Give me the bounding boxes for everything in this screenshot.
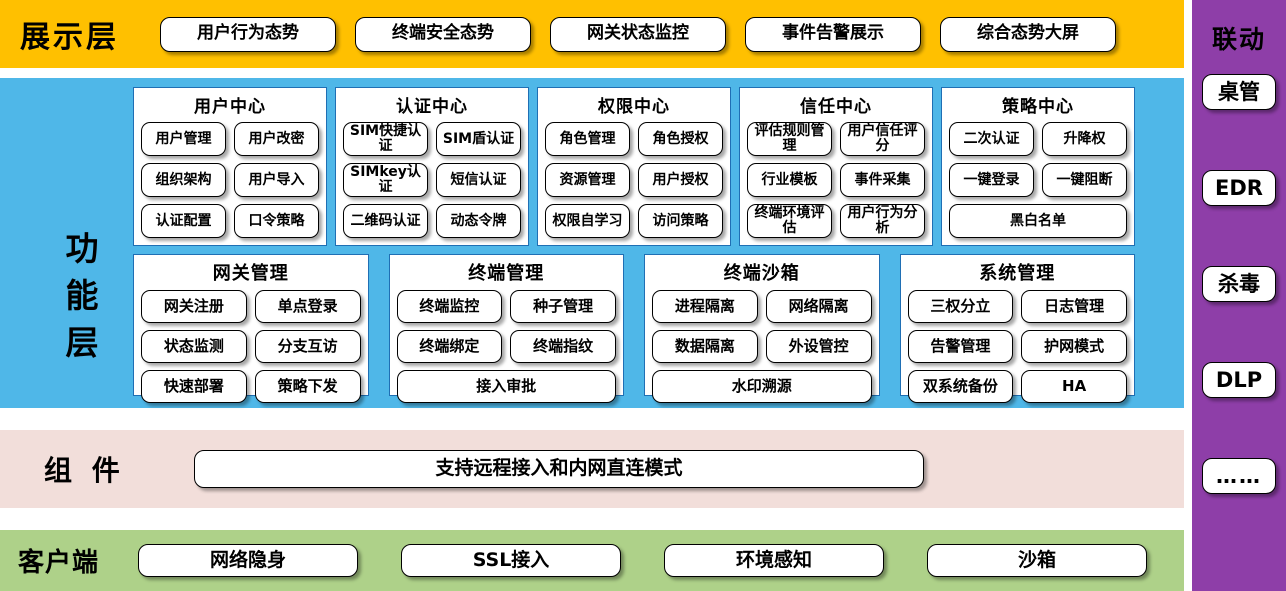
cell-endpoint-fingerprint[interactable]: 终端指纹 <box>510 330 616 363</box>
client-layer-label: 客户端 <box>18 542 138 579</box>
function-row-1: 用户中心 用户管理 用户改密 组织架构 用户导入 认证配置 口令策略 认证中心 … <box>133 87 1135 246</box>
cell-separation-of-powers[interactable]: 三权分立 <box>908 290 1014 323</box>
group-trust-center: 信任中心 评估规则管理 用户信任评分 行业模板 事件采集 终端环境评估 用户行为… <box>739 87 933 246</box>
group-title: 认证中心 <box>396 92 468 117</box>
cell-simkey-auth[interactable]: SIMkey认证 <box>343 163 428 197</box>
group-title: 系统管理 <box>979 259 1055 285</box>
group-gateway-management: 网关管理 网关注册 单点登录 状态监测 分支互访 快速部署 策略下发 <box>133 254 369 396</box>
cell-network-isolation[interactable]: 网络隔离 <box>766 290 872 323</box>
cell-sms-auth[interactable]: 短信认证 <box>436 163 521 197</box>
group-endpoint-sandbox: 终端沙箱 进程隔离 网络隔离 数据隔离 外设管控 水印溯源 <box>644 254 880 396</box>
function-layer-label: 功能层 <box>52 226 112 367</box>
cell-auth-config[interactable]: 认证配置 <box>141 204 226 238</box>
cell-industry-template[interactable]: 行业模板 <box>747 163 832 197</box>
cell-fast-deploy[interactable]: 快速部署 <box>141 370 247 403</box>
client-layer-items: 网络隐身 SSL接入 环境感知 沙箱 <box>138 544 1147 577</box>
cell-access-approval[interactable]: 接入审批 <box>397 370 617 403</box>
cell-log-management[interactable]: 日志管理 <box>1021 290 1127 323</box>
function-layer-band: 功能层 用户中心 用户管理 用户改密 组织架构 用户导入 认证配置 口令策略 认… <box>0 78 1184 408</box>
component-banner[interactable]: 支持远程接入和内网直连模式 <box>194 450 924 488</box>
group-user-center: 用户中心 用户管理 用户改密 组织架构 用户导入 认证配置 口令策略 <box>133 87 327 246</box>
cell-data-isolation[interactable]: 数据隔离 <box>652 330 758 363</box>
linkage-rail-title: 联动 <box>1212 20 1266 56</box>
group-cells: 角色管理 角色授权 资源管理 用户授权 权限自学习 访问策略 <box>538 122 730 244</box>
cell-sim-quick-auth[interactable]: SIM快捷认证 <box>343 122 428 156</box>
cell-qrcode-auth[interactable]: 二维码认证 <box>343 204 428 238</box>
cell-gateway-register[interactable]: 网关注册 <box>141 290 247 323</box>
component-layer-band: 组 件 支持远程接入和内网直连模式 <box>0 430 1184 508</box>
cell-user-import[interactable]: 用户导入 <box>234 163 319 197</box>
group-title: 信任中心 <box>800 92 872 117</box>
cell-seed-management[interactable]: 种子管理 <box>510 290 616 323</box>
group-cells: SIM快捷认证 SIM盾认证 SIMkey认证 短信认证 二维码认证 动态令牌 <box>336 122 528 244</box>
cell-sim-shield-auth[interactable]: SIM盾认证 <box>436 122 521 156</box>
rail-item-antivirus[interactable]: 杀毒 <box>1202 266 1276 302</box>
display-item-endpoint-security[interactable]: 终端安全态势 <box>355 17 531 52</box>
group-cells: 评估规则管理 用户信任评分 行业模板 事件采集 终端环境评估 用户行为分析 <box>740 122 932 244</box>
cell-user-grant[interactable]: 用户授权 <box>638 163 723 197</box>
group-auth-center: 认证中心 SIM快捷认证 SIM盾认证 SIMkey认证 短信认证 二维码认证 … <box>335 87 529 246</box>
function-row-2: 网关管理 网关注册 单点登录 状态监测 分支互访 快速部署 策略下发 终端管理 … <box>133 254 1135 396</box>
rail-item-dlp[interactable]: DLP <box>1202 362 1276 398</box>
cell-password-policy[interactable]: 口令策略 <box>234 204 319 238</box>
group-title: 终端沙箱 <box>724 259 800 285</box>
group-title: 网关管理 <box>213 259 289 285</box>
display-item-overview-screen[interactable]: 综合态势大屏 <box>940 17 1116 52</box>
cell-event-collect[interactable]: 事件采集 <box>840 163 925 197</box>
cell-one-key-block[interactable]: 一键阻断 <box>1042 163 1127 197</box>
cell-user-password[interactable]: 用户改密 <box>234 122 319 156</box>
cell-one-key-login[interactable]: 一键登录 <box>949 163 1034 197</box>
cell-permission-learn[interactable]: 权限自学习 <box>545 204 630 238</box>
cell-process-isolation[interactable]: 进程隔离 <box>652 290 758 323</box>
cell-defense-mode[interactable]: 护网模式 <box>1021 330 1127 363</box>
cell-branch-access[interactable]: 分支互访 <box>255 330 361 363</box>
group-cells: 进程隔离 网络隔离 数据隔离 外设管控 水印溯源 <box>645 290 879 409</box>
architecture-diagram: 展示层 用户行为态势 终端安全态势 网关状态监控 事件告警展示 综合态势大屏 功… <box>0 0 1286 591</box>
display-item-event-alarm[interactable]: 事件告警展示 <box>745 17 921 52</box>
client-layer-band: 客户端 网络隐身 SSL接入 环境感知 沙箱 <box>0 530 1184 591</box>
group-title: 策略中心 <box>1002 92 1074 117</box>
cell-alarm-management[interactable]: 告警管理 <box>908 330 1014 363</box>
cell-second-auth[interactable]: 二次认证 <box>949 122 1034 156</box>
group-title: 权限中心 <box>598 92 670 117</box>
cell-org-structure[interactable]: 组织架构 <box>141 163 226 197</box>
group-policy-center: 策略中心 二次认证 升降权 一键登录 一键阻断 黑白名单 <box>941 87 1135 246</box>
linkage-rail: 联动 桌管 EDR 杀毒 DLP …… <box>1192 0 1286 591</box>
cell-status-monitor[interactable]: 状态监测 <box>141 330 247 363</box>
cell-peripheral-control[interactable]: 外设管控 <box>766 330 872 363</box>
group-system-management: 系统管理 三权分立 日志管理 告警管理 护网模式 双系统备份 HA <box>900 254 1136 396</box>
group-cells: 网关注册 单点登录 状态监测 分支互访 快速部署 策略下发 <box>134 290 368 409</box>
display-item-gateway-status[interactable]: 网关状态监控 <box>550 17 726 52</box>
cell-black-white-list[interactable]: 黑白名单 <box>949 204 1127 238</box>
component-layer-label: 组 件 <box>44 449 194 489</box>
display-layer-items: 用户行为态势 终端安全态势 网关状态监控 事件告警展示 综合态势大屏 <box>160 17 1116 52</box>
cell-role-grant[interactable]: 角色授权 <box>638 122 723 156</box>
group-cells: 二次认证 升降权 一键登录 一键阻断 黑白名单 <box>942 122 1134 244</box>
cell-dynamic-token[interactable]: 动态令牌 <box>436 204 521 238</box>
display-layer-band: 展示层 用户行为态势 终端安全态势 网关状态监控 事件告警展示 综合态势大屏 <box>0 0 1184 68</box>
cell-endpoint-binding[interactable]: 终端绑定 <box>397 330 503 363</box>
cell-ha[interactable]: HA <box>1021 370 1127 403</box>
group-permission-center: 权限中心 角色管理 角色授权 资源管理 用户授权 权限自学习 访问策略 <box>537 87 731 246</box>
cell-endpoint-monitor[interactable]: 终端监控 <box>397 290 503 323</box>
cell-endpoint-env-eval[interactable]: 终端环境评估 <box>747 204 832 238</box>
cell-access-policy[interactable]: 访问策略 <box>638 204 723 238</box>
display-item-user-behavior[interactable]: 用户行为态势 <box>160 17 336 52</box>
cell-role-management[interactable]: 角色管理 <box>545 122 630 156</box>
group-cells: 三权分立 日志管理 告警管理 护网模式 双系统备份 HA <box>901 290 1135 409</box>
group-title: 用户中心 <box>194 92 266 117</box>
client-item-env-awareness[interactable]: 环境感知 <box>664 544 884 577</box>
cell-eval-rule-mgmt[interactable]: 评估规则管理 <box>747 122 832 156</box>
rail-item-more[interactable]: …… <box>1202 458 1276 494</box>
group-cells: 用户管理 用户改密 组织架构 用户导入 认证配置 口令策略 <box>134 122 326 244</box>
rail-item-edr[interactable]: EDR <box>1202 170 1276 206</box>
client-item-ssl-access[interactable]: SSL接入 <box>401 544 621 577</box>
cell-watermark-trace[interactable]: 水印溯源 <box>652 370 872 403</box>
group-title: 终端管理 <box>468 259 544 285</box>
group-cells: 终端监控 种子管理 终端绑定 终端指纹 接入审批 <box>390 290 624 409</box>
client-item-network-stealth[interactable]: 网络隐身 <box>138 544 358 577</box>
display-layer-label: 展示层 <box>20 12 160 56</box>
rail-item-desktop-management[interactable]: 桌管 <box>1202 74 1276 110</box>
cell-dual-system-backup[interactable]: 双系统备份 <box>908 370 1014 403</box>
cell-resource-mgmt[interactable]: 资源管理 <box>545 163 630 197</box>
cell-sso[interactable]: 单点登录 <box>255 290 361 323</box>
cell-user-trust-score[interactable]: 用户信任评分 <box>840 122 925 156</box>
group-endpoint-management: 终端管理 终端监控 种子管理 终端绑定 终端指纹 接入审批 <box>389 254 625 396</box>
cell-user-management[interactable]: 用户管理 <box>141 122 226 156</box>
cell-user-behavior-analysis[interactable]: 用户行为分析 <box>840 204 925 238</box>
client-item-sandbox[interactable]: 沙箱 <box>927 544 1147 577</box>
cell-policy-push[interactable]: 策略下发 <box>255 370 361 403</box>
cell-privilege-adjust[interactable]: 升降权 <box>1042 122 1127 156</box>
